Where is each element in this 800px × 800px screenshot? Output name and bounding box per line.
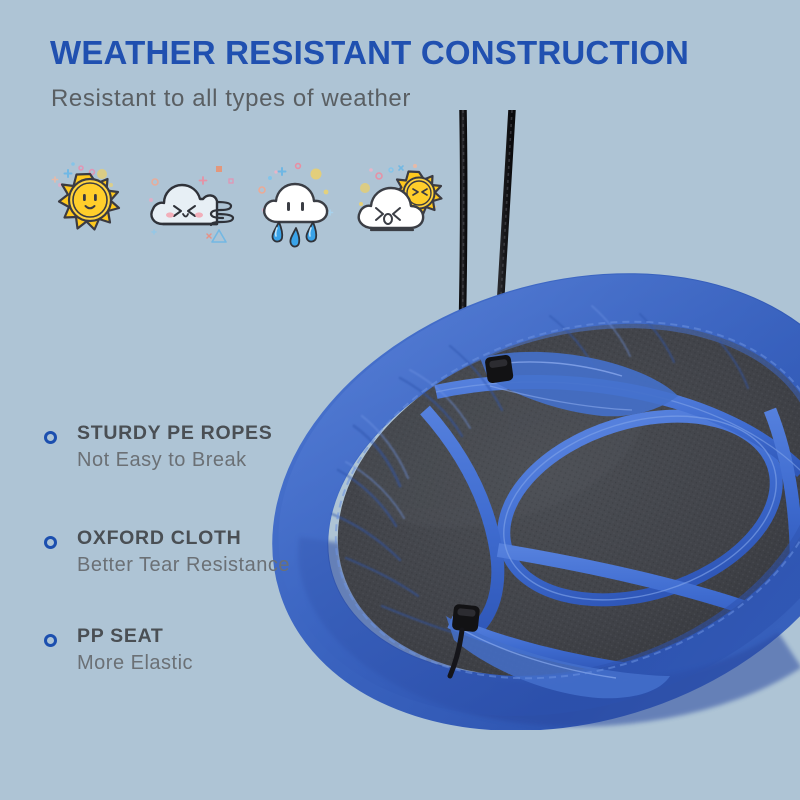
- bullet-ring-icon: [44, 536, 57, 549]
- page-title: WEATHER RESISTANT CONSTRUCTION: [50, 34, 689, 72]
- bullet-ring-icon: [44, 431, 57, 444]
- feature-subtitle: Not Easy to Break: [77, 449, 374, 472]
- sun-behind-cloud-icon: [349, 152, 449, 252]
- weather-icon-row: [40, 152, 450, 252]
- infographic-page: WEATHER RESISTANT CONSTRUCTION Resistant…: [0, 0, 800, 800]
- feature-subtitle: More Elastic: [77, 652, 374, 675]
- windy-cloud-icon: [143, 152, 243, 252]
- bullet-ring-icon: [44, 634, 57, 647]
- feature-title: PP SEAT: [77, 625, 374, 648]
- feature-item-oxford-cloth: OXFORD CLOTH Better Tear Resistance: [44, 527, 374, 577]
- feature-item-pp-seat: PP SEAT More Elastic: [44, 625, 374, 675]
- rain-cloud-icon: [246, 152, 346, 252]
- sunny-icon: [40, 152, 140, 252]
- feature-title: STURDY PE ROPES: [77, 422, 374, 445]
- feature-subtitle: Better Tear Resistance: [77, 554, 374, 577]
- page-subtitle: Resistant to all types of weather: [51, 85, 411, 113]
- feature-item-sturdy-pe-ropes: STURDY PE ROPES Not Easy to Break: [44, 422, 374, 472]
- feature-title: OXFORD CLOTH: [77, 527, 374, 550]
